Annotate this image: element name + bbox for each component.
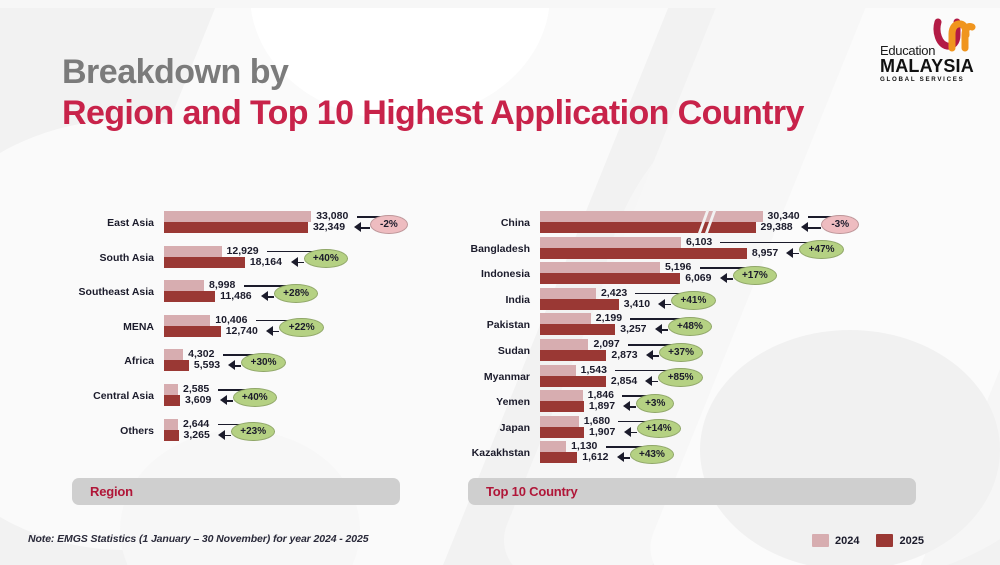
legend-item-2025: 2025: [876, 534, 923, 547]
category-label: Bangladesh: [400, 237, 530, 262]
callout-arrow-head-icon: [354, 222, 361, 232]
bar-2024: [164, 211, 311, 222]
bar-group: 8,99811,486+28%: [164, 280, 440, 302]
value-label-2025: 6,069: [685, 273, 711, 284]
value-label-2025: 2,854: [611, 376, 637, 387]
callout-arrow-head-icon: [658, 299, 665, 309]
bar-2025: [164, 257, 245, 268]
chart-row: Japan1,6801,907+14%: [400, 416, 960, 441]
bar-group: 2,0972,873+37%: [540, 339, 960, 361]
bar-group: 33,08032,349-2%: [164, 211, 440, 233]
title-line-2: Region and Top 10 Highest Application Co…: [62, 92, 804, 134]
value-label-2025: 11,486: [220, 291, 252, 302]
bar-2024: [164, 246, 222, 257]
chart-row: Bangladesh6,1038,957+47%: [400, 237, 960, 262]
bar-2024: [540, 390, 583, 401]
bar-2024: [540, 365, 576, 376]
change-badge: +14%: [637, 419, 681, 438]
bar-2024: [540, 262, 660, 273]
callout-arrow-head-icon: [261, 291, 268, 301]
bar-2025: [540, 248, 747, 259]
callout-arrow-head-icon: [624, 427, 631, 437]
callout-arrow-line: [298, 262, 304, 264]
value-label-2025: 8,957: [752, 248, 778, 259]
change-badge: +3%: [636, 394, 674, 413]
callout-arrow-line: [273, 331, 279, 333]
value-label-2025: 29,388: [761, 222, 793, 233]
callout-arrow-line: [268, 296, 274, 298]
axis-break-icon: [700, 210, 716, 234]
bar-group: 1,5432,854+85%: [540, 365, 960, 387]
category-label: Pakistan: [400, 313, 530, 338]
bar-2025: [164, 430, 179, 441]
bar-2025: [540, 324, 615, 335]
change-badge: +40%: [304, 249, 348, 268]
change-badge: +28%: [274, 284, 318, 303]
callout-arrow-head-icon: [786, 248, 793, 258]
callout-arrow-line: [653, 355, 659, 357]
chart-row: China30,34029,388-3%: [400, 211, 960, 236]
section-bar-country: Top 10 Country: [468, 478, 916, 505]
bar-2024: [540, 211, 763, 222]
value-label-2025: 3,257: [620, 324, 646, 335]
chart-row: Africa4,3025,593+30%: [0, 349, 440, 374]
chart-row: Sudan2,0972,873+37%: [400, 339, 960, 364]
change-badge: -3%: [821, 215, 859, 234]
chart-row: MENA10,40612,740+22%: [0, 315, 440, 340]
bar-group: 2,5853,609+40%: [164, 384, 440, 406]
change-badge: +30%: [241, 353, 285, 372]
category-label: Others: [24, 419, 154, 444]
category-label: Kazakhstan: [400, 441, 530, 466]
legend-label: 2025: [899, 535, 923, 547]
callout-arrow-line: [793, 253, 799, 255]
bar-2025: [540, 376, 606, 387]
bar-group: 2,4233,410+41%: [540, 288, 960, 310]
bar-group: 1,6801,907+14%: [540, 416, 960, 438]
category-label: Myanmar: [400, 365, 530, 390]
chart-row: South Asia12,92918,164+40%: [0, 246, 440, 271]
category-label: South Asia: [24, 246, 154, 271]
chart-row: Southeast Asia8,99811,486+28%: [0, 280, 440, 305]
value-label-2025: 32,349: [313, 222, 345, 233]
category-label: Japan: [400, 416, 530, 441]
callout-arrow-head-icon: [623, 401, 630, 411]
value-label-2025: 3,265: [184, 430, 210, 441]
callout-arrow-head-icon: [645, 376, 652, 386]
section-label-country: Top 10 Country: [486, 484, 578, 499]
bar-group: 2,6443,265+23%: [164, 419, 440, 441]
bar-2025: [540, 350, 606, 361]
value-label-2024: 2,644: [183, 419, 209, 430]
chart-row: Myanmar1,5432,854+85%: [400, 365, 960, 390]
bar-group: 10,40612,740+22%: [164, 315, 440, 337]
callout-arrow-line: [662, 329, 668, 331]
category-label: China: [400, 211, 530, 236]
value-label-2025: 1,612: [582, 452, 608, 463]
bar-2025: [164, 360, 189, 371]
callout-arrow-head-icon: [220, 395, 227, 405]
value-label-2024: 1,543: [581, 365, 607, 376]
value-label-2025: 1,907: [589, 427, 615, 438]
bar-2025: [540, 222, 756, 233]
callout-arrow-head-icon: [266, 326, 273, 336]
change-badge: +47%: [799, 240, 843, 259]
title-line-1: Breakdown by: [62, 52, 804, 92]
page-title: Breakdown by Region and Top 10 Highest A…: [62, 52, 804, 134]
bar-2024: [540, 441, 566, 452]
chart-row: East Asia33,08032,349-2%: [0, 211, 440, 236]
value-label-2025: 12,740: [226, 326, 258, 337]
callout-arrow-line: [808, 227, 821, 229]
callout-arrow-line: [631, 432, 637, 434]
change-badge: +43%: [630, 445, 674, 464]
bar-group: 30,34029,388-3%: [540, 211, 960, 233]
bar-2025: [540, 273, 680, 284]
bar-2024: [540, 416, 579, 427]
bar-2025: [164, 291, 215, 302]
section-bar-region: Region: [72, 478, 400, 505]
bar-2024: [164, 384, 178, 395]
bar-2025: [164, 326, 221, 337]
category-label: Yemen: [400, 390, 530, 415]
callout-arrow-head-icon: [801, 222, 808, 232]
callout-arrow-line: [227, 400, 233, 402]
bar-2024: [540, 288, 596, 299]
bar-2025: [164, 222, 308, 233]
background-strip: [0, 0, 1000, 8]
category-label: India: [400, 288, 530, 313]
bar-group: 4,3025,593+30%: [164, 349, 440, 371]
value-label-2025: 3,410: [624, 299, 650, 310]
logo-line-malaysia: MALAYSIA: [880, 57, 976, 75]
category-label: Central Asia: [24, 384, 154, 409]
change-badge: +48%: [668, 317, 712, 336]
change-badge: +22%: [279, 318, 323, 337]
bar-2025: [164, 395, 180, 406]
emgs-logo: Education MALAYSIA GLOBAL SERVICES: [880, 22, 985, 84]
bar-group: 6,1038,957+47%: [540, 237, 960, 259]
callout-arrow-line: [652, 381, 658, 383]
callout-arrow-head-icon: [617, 452, 624, 462]
bar-group: 1,8461,897+3%: [540, 390, 960, 412]
chart-row: India2,4233,410+41%: [400, 288, 960, 313]
section-label-region: Region: [90, 484, 133, 499]
poster-canvas: Breakdown by Region and Top 10 Highest A…: [0, 0, 1000, 565]
change-badge: +37%: [659, 343, 703, 362]
chart-row: Indonesia5,1966,069+17%: [400, 262, 960, 287]
footnote: Note: EMGS Statistics (1 January – 30 No…: [28, 533, 368, 545]
value-label-2024: 6,103: [686, 237, 712, 248]
callout-arrow-line: [225, 435, 231, 437]
value-label-2025: 18,164: [250, 257, 282, 268]
chart-row: Pakistan2,1993,257+48%: [400, 313, 960, 338]
callout-arrow-line: [624, 457, 630, 459]
category-label: MENA: [24, 315, 154, 340]
bar-group: 2,1993,257+48%: [540, 313, 960, 335]
callout-arrow-head-icon: [646, 350, 653, 360]
legend-swatch-icon: [876, 534, 893, 547]
legend-swatch-icon: [812, 534, 829, 547]
bar-group: 1,1301,612+43%: [540, 441, 960, 463]
callout-arrow-head-icon: [291, 257, 298, 267]
callout-arrow-head-icon: [655, 324, 662, 334]
logo-wordmark: Education MALAYSIA GLOBAL SERVICES: [880, 44, 976, 84]
bar-2025: [540, 299, 619, 310]
logo-line-global-services: GLOBAL SERVICES: [880, 75, 976, 84]
chart-top10-country: China30,34029,388-3%Bangladesh6,1038,957…: [400, 200, 960, 465]
category-label: Africa: [24, 349, 154, 374]
callout-arrow-line: [235, 365, 241, 367]
value-label-2025: 5,593: [194, 360, 220, 371]
bar-2024: [164, 315, 210, 326]
value-label-2025: 2,873: [611, 350, 637, 361]
category-label: Sudan: [400, 339, 530, 364]
bar-2024: [164, 349, 183, 360]
change-badge: +85%: [658, 368, 702, 387]
chart-row: Yemen1,8461,897+3%: [400, 390, 960, 415]
chart-region: East Asia33,08032,349-2%South Asia12,929…: [0, 200, 440, 465]
category-label: East Asia: [24, 211, 154, 236]
chart-row: Central Asia2,5853,609+40%: [0, 384, 440, 409]
callout-arrow-line: [665, 304, 671, 306]
value-label-2024: 12,929: [227, 246, 259, 257]
legend-label: 2024: [835, 535, 859, 547]
chart-row: Others2,6443,265+23%: [0, 419, 440, 444]
callout-arrow-head-icon: [720, 273, 727, 283]
change-badge: +23%: [231, 422, 275, 441]
chart-row: Kazakhstan1,1301,612+43%: [400, 441, 960, 466]
value-label-2024: 2,199: [596, 313, 622, 324]
bar-2024: [540, 313, 591, 324]
legend: 2024 2025: [812, 534, 924, 547]
value-label-2025: 1,897: [589, 401, 615, 412]
bar-2024: [164, 419, 178, 430]
bar-2025: [540, 401, 584, 412]
bar-group: 12,92918,164+40%: [164, 246, 440, 268]
value-label-2025: 3,609: [185, 395, 211, 406]
legend-item-2024: 2024: [812, 534, 859, 547]
callout-arrow-line: [361, 227, 370, 229]
bar-2024: [540, 339, 588, 350]
callout-arrow-line: [630, 406, 636, 408]
callout-arrow-head-icon: [228, 360, 235, 370]
callout-arrow-head-icon: [218, 430, 225, 440]
change-badge: +41%: [671, 291, 715, 310]
category-label: Indonesia: [400, 262, 530, 287]
bar-2025: [540, 427, 584, 438]
category-label: Southeast Asia: [24, 280, 154, 305]
change-badge: +40%: [233, 388, 277, 407]
change-badge: +17%: [733, 266, 777, 285]
callout-arrow-line: [727, 278, 733, 280]
bar-group: 5,1966,069+17%: [540, 262, 960, 284]
bar-2024: [164, 280, 204, 291]
bar-2024: [540, 237, 681, 248]
bar-2025: [540, 452, 577, 463]
